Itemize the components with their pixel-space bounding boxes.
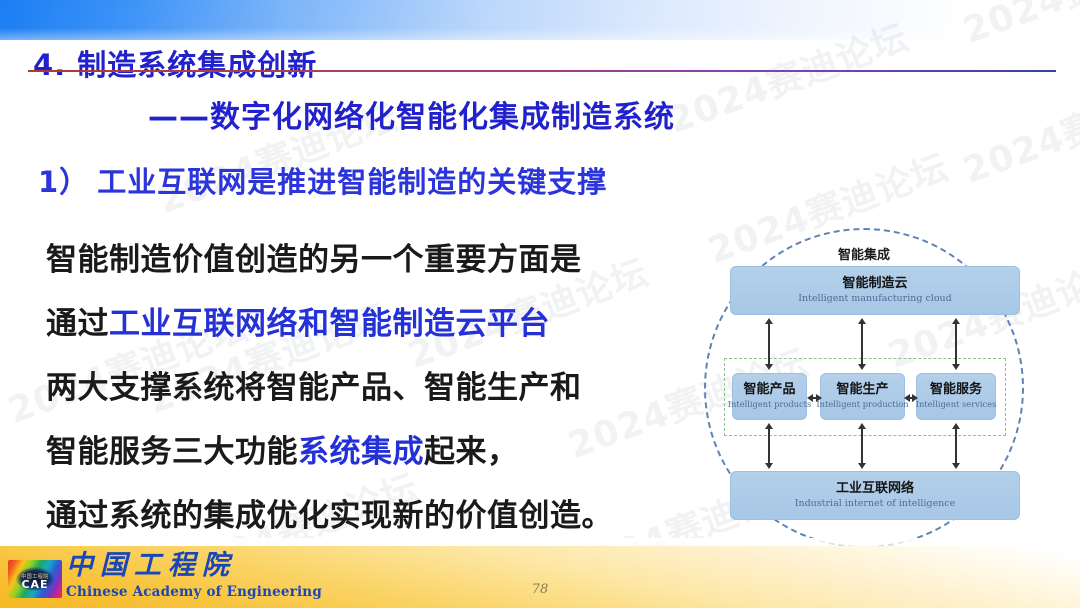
body-line: 通过工业互联网络和智能制造云平台 [46, 292, 706, 356]
page-number: 78 [0, 582, 1080, 597]
body-paragraph: 智能制造价值创造的另一个重要方面是通过工业互联网络和智能制造云平台两大支撑系统将… [46, 228, 706, 548]
body-text-plain: 两大支撑系统将智能产品、智能生产和 [46, 370, 582, 406]
diagram-box-cloud-en: Intelligent manufacturing cloud [798, 294, 952, 304]
body-text-emphasis: 系统集成 [298, 434, 424, 470]
diagram-box-network-zh: 工业互联网络 [836, 482, 914, 497]
page-title-primary: 4. 制造系统集成创新 [33, 42, 317, 84]
diagram-box-production: 智能生产 Intelligent production [820, 373, 905, 420]
arrow-cloud-to-services-icon [955, 323, 957, 365]
diagram-box-services-zh: 智能服务 [930, 383, 982, 398]
diagram-outer-label: 智能集成 [694, 244, 1034, 263]
body-line: 智能服务三大功能系统集成起来， [46, 420, 706, 484]
diagram-box-products: 智能产品 Intelligent products [732, 373, 807, 420]
diagram-box-services: 智能服务 Intelligent services [916, 373, 996, 420]
arrow-cloud-to-production-icon [861, 323, 863, 365]
subheading-number: 1） [38, 165, 89, 199]
body-line: 两大支撑系统将智能产品、智能生产和 [46, 356, 706, 420]
diagram-box-products-zh: 智能产品 [743, 383, 795, 398]
body-text-plain: 智能服务三大功能 [46, 434, 298, 470]
diagram-box-production-zh: 智能生产 [836, 383, 888, 398]
body-text-plain: 起来， [424, 434, 519, 470]
body-line: 智能制造价值创造的另一个重要方面是 [46, 228, 706, 292]
arrow-products-production-icon [812, 397, 817, 399]
page-title-secondary: ——数字化网络化智能化集成制造系统 [148, 92, 675, 136]
arrow-products-to-network-icon [768, 428, 770, 464]
slide-canvas: 2024赛迪论坛2024赛迪论坛2024赛迪论坛2024赛迪论坛2024赛迪论坛… [0, 0, 1080, 608]
arrow-services-to-network-icon [955, 428, 957, 464]
diagram-box-products-en: Intelligent products [728, 400, 812, 409]
diagram-box-network: 工业互联网络 Industrial internet of intelligen… [730, 471, 1020, 520]
diagram-box-network-en: Industrial internet of intelligence [795, 499, 956, 509]
body-text-plain: 通过系统的集成优化实现新的价值创造。 [46, 498, 613, 534]
arrow-cloud-to-products-icon [768, 323, 770, 365]
organization-name-zh: 中国工程院 [66, 543, 236, 582]
title-divider-rule [28, 70, 1056, 72]
diagram-box-services-en: Intelligent services [916, 400, 997, 409]
arrow-production-to-network-icon [861, 428, 863, 464]
diagram-box-cloud-zh: 智能制造云 [842, 277, 907, 292]
arrow-production-services-icon [909, 397, 913, 399]
integration-diagram: 智能集成 智能制造云 Intelligent manufacturing clo… [694, 206, 1068, 558]
body-text-plain: 通过 [46, 306, 109, 342]
diagram-box-cloud: 智能制造云 Intelligent manufacturing cloud [730, 266, 1020, 315]
body-text-plain: 智能制造价值创造的另一个重要方面是 [46, 242, 582, 278]
body-text-emphasis: 工业互联网络和智能制造云平台 [109, 306, 550, 342]
diagram-box-production-en: Intelligent production [816, 400, 908, 409]
subheading-text: 工业互联网是推进智能制造的关键支撑 [97, 165, 607, 199]
watermark-text: 2024赛迪论坛 [955, 59, 1080, 194]
section-subheading: 1）工业互联网是推进智能制造的关键支撑 [38, 159, 607, 201]
